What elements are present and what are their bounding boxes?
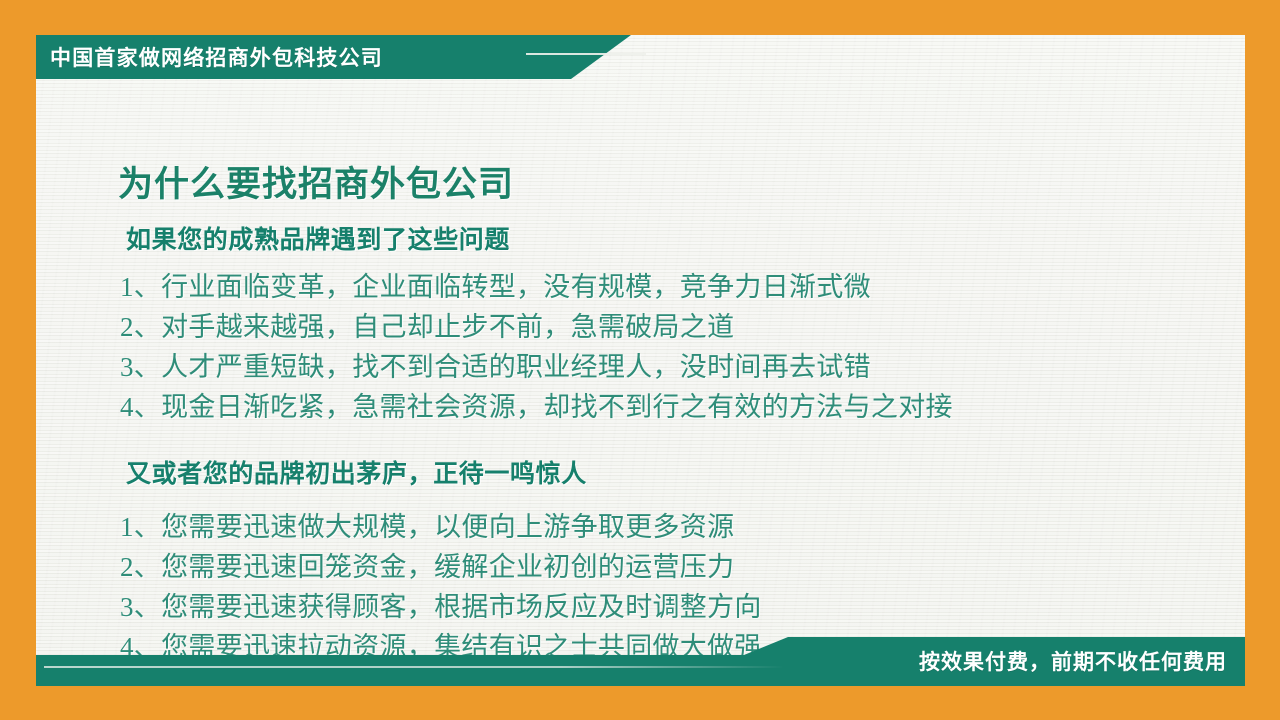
content-card: 中国首家做网络招商外包科技公司 为什么要找招商外包公司 如果您的成熟品牌遇到了这… — [36, 35, 1245, 686]
page-title: 为什么要找招商外包公司 — [118, 156, 514, 207]
slide-root: 中国首家做网络招商外包科技公司 为什么要找招商外包公司 如果您的成熟品牌遇到了这… — [0, 0, 1280, 720]
top-banner: 中国首家做网络招商外包科技公司 — [36, 35, 631, 79]
bottom-banner-text: 按效果付费，前期不收任何费用 — [919, 646, 1227, 676]
bottom-banner-rule — [44, 666, 784, 668]
need-list: 1、您需要迅速做大规模，以便向上游争取更多资源 2、您需要迅速回笼资金，缓解企业… — [120, 507, 762, 667]
list-item: 1、行业面临变革，企业面临转型，没有规模，竞争力日渐式微 — [120, 267, 953, 307]
list-item: 4、现金日渐吃紧，急需社会资源，却找不到行之有效的方法与之对接 — [120, 387, 953, 427]
top-banner-title: 中国首家做网络招商外包科技公司 — [50, 42, 383, 72]
section-heading-mature-brand: 如果您的成熟品牌遇到了这些问题 — [126, 220, 510, 256]
section-heading-new-brand: 又或者您的品牌初出茅庐，正待一鸣惊人 — [126, 454, 587, 490]
list-item: 2、您需要迅速回笼资金，缓解企业初创的运营压力 — [120, 547, 762, 587]
list-item: 2、对手越来越强，自己却止步不前，急需破局之道 — [120, 307, 953, 347]
top-banner-rule — [526, 53, 646, 55]
list-item: 3、人才严重短缺，找不到合适的职业经理人，没时间再去试错 — [120, 347, 953, 387]
list-item: 1、您需要迅速做大规模，以便向上游争取更多资源 — [120, 507, 762, 547]
list-item: 3、您需要迅速获得顾客，根据市场反应及时调整方向 — [120, 587, 762, 627]
problem-list: 1、行业面临变革，企业面临转型，没有规模，竞争力日渐式微 2、对手越来越强，自己… — [120, 267, 953, 427]
